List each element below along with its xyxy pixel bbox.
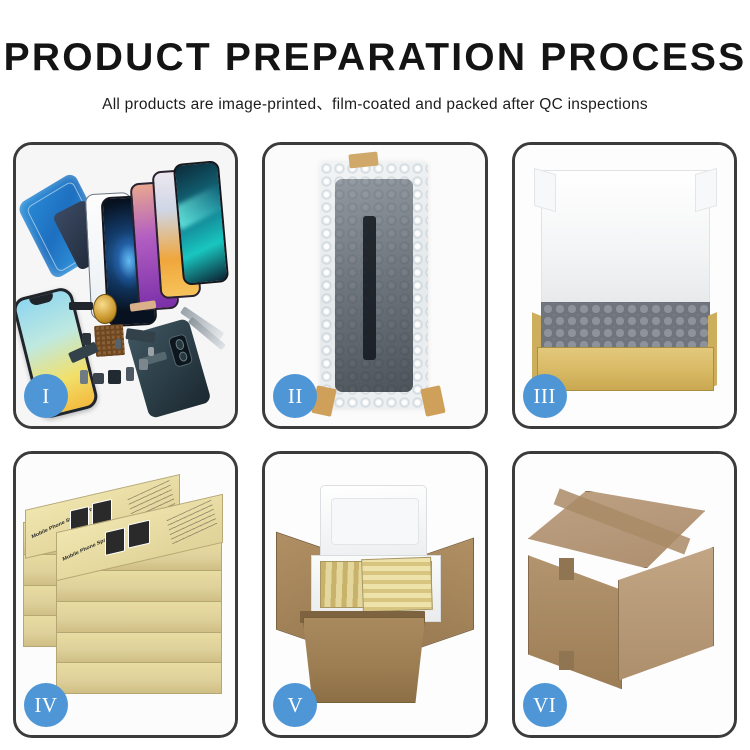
box-screen-image-2 — [127, 519, 149, 549]
small-part-7 — [82, 333, 91, 344]
process-step-6: VI — [512, 451, 737, 738]
product-preparation-infographic: PRODUCT PREPARATION PROCESS All products… — [0, 0, 750, 750]
small-part-1 — [80, 370, 89, 384]
box-screen-image-1 — [104, 527, 124, 555]
header: PRODUCT PREPARATION PROCESS All products… — [0, 0, 750, 114]
small-part-4 — [126, 367, 135, 381]
process-step-3: III — [512, 142, 737, 429]
box-spec-text-block — [166, 499, 217, 545]
bubble-wrap-bag — [320, 162, 427, 409]
page-title: PRODUCT PREPARATION PROCESS — [0, 38, 750, 77]
camera-module — [168, 333, 193, 367]
kraft-boxes-inside-stack — [361, 557, 433, 612]
process-step-4: Mobile Phone Spare Parts Mobile Phone Sp… — [13, 451, 238, 738]
process-step-grid: I II — [13, 142, 737, 738]
process-step-2: II — [262, 142, 487, 429]
foam-lid-open — [320, 485, 427, 560]
small-part-3 — [108, 370, 121, 384]
page-subtitle: All products are image-printed、film-coat… — [0, 92, 750, 114]
carton-body — [303, 617, 426, 703]
carton-tab-upper — [559, 558, 574, 580]
speaker-component — [93, 294, 117, 324]
small-part-6 — [115, 339, 122, 349]
process-step-1: I — [13, 142, 238, 429]
white-foam-lid — [541, 170, 710, 310]
stack-box-front-5 — [56, 661, 223, 694]
antenna-bar — [69, 302, 93, 309]
small-part-2 — [93, 373, 104, 384]
carton-tab-lower — [559, 651, 574, 671]
box-stack: Mobile Phone Spare Parts Mobile Phone Sp… — [23, 482, 229, 718]
step-badge-3: III — [523, 374, 567, 418]
wrapped-part-strip — [363, 216, 376, 359]
small-part-8 — [148, 347, 155, 355]
step-badge-5: V — [273, 683, 317, 727]
stack-box-front-3 — [56, 600, 223, 633]
step-badge-4: IV — [24, 683, 68, 727]
process-step-5: V — [262, 451, 487, 738]
step-badge-1: I — [24, 374, 68, 418]
step-badge-2: II — [273, 374, 317, 418]
stack-box-front-4 — [56, 631, 223, 664]
small-part-5 — [139, 359, 148, 370]
step-badge-6: VI — [523, 683, 567, 727]
